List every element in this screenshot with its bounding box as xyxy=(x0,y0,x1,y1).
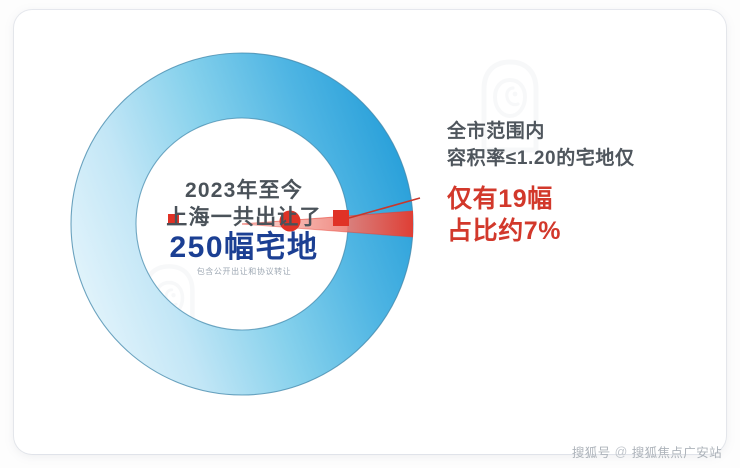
callout-annotation: 全市范围内 容积率≤1.20的宅地仅 仅有19幅 占比约7% xyxy=(447,119,707,247)
footer-watermark: 搜狐号 @ 搜狐焦点广安站 xyxy=(572,442,722,461)
footer-watermark-account: 搜狐焦点广安站 xyxy=(632,442,722,461)
callout-dot-marker xyxy=(280,211,301,232)
annotation-head-line-1: 全市范围内 xyxy=(447,119,707,146)
callout-inner-square-marker xyxy=(168,214,179,225)
donut-chart xyxy=(68,50,416,398)
infographic-root: 2023年至今 上海一共出让了 250幅宅地 包含公开出让和协议转让 全市范围内… xyxy=(0,0,740,468)
footer-watermark-separator: @ xyxy=(615,445,628,459)
callout-square-marker xyxy=(333,210,349,226)
footer-watermark-prefix: 搜狐号 xyxy=(572,442,611,461)
annotation-highlight-percent: 占比约7% xyxy=(447,215,707,247)
annotation-highlight-count: 仅有19幅 xyxy=(447,183,707,215)
annotation-head-line-2: 容积率≤1.20的宅地仅 xyxy=(447,146,707,173)
